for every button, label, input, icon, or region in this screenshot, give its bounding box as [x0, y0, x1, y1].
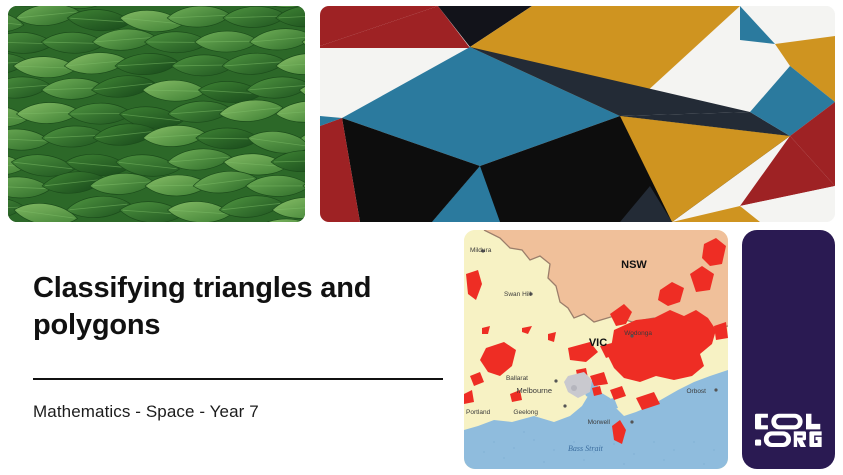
map-label-swan-hill: Swan Hill [504, 291, 532, 298]
triangles-illustration [320, 6, 835, 222]
map-label-bass-strait: Bass Strait [568, 444, 604, 453]
cool-org-logo-mark [755, 411, 823, 449]
leaves-image [8, 6, 305, 222]
triangles-image [320, 6, 835, 222]
title-block: Classifying triangles and polygons [33, 270, 445, 344]
map-label-portland: Portland [466, 409, 491, 416]
map-label-morwell: Morwell [588, 419, 611, 426]
leaves-illustration [8, 6, 305, 222]
page-title: Classifying triangles and polygons [33, 270, 445, 344]
map-label-mildura: Mildura [470, 247, 492, 254]
map-image: NSW VIC Mildura Swan Hill Wodonga Ballar… [464, 230, 728, 469]
page-subtitle: Mathematics - Space - Year 7 [33, 402, 259, 422]
cool-org-logo [755, 411, 823, 449]
map-label-melbourne: Melbourne [517, 386, 552, 395]
map-label-vic: VIC [589, 337, 607, 349]
map-label-wodonga: Wodonga [624, 330, 652, 337]
map-label-geelong: Geelong [513, 409, 538, 416]
map-label-nsw: NSW [621, 259, 647, 271]
map-label-orbost: Orbost [686, 388, 706, 395]
map-label-ballarat: Ballarat [506, 375, 528, 382]
title-divider [33, 378, 443, 380]
victoria-map: NSW VIC Mildura Swan Hill Wodonga Ballar… [464, 230, 728, 469]
brand-panel [742, 230, 835, 469]
